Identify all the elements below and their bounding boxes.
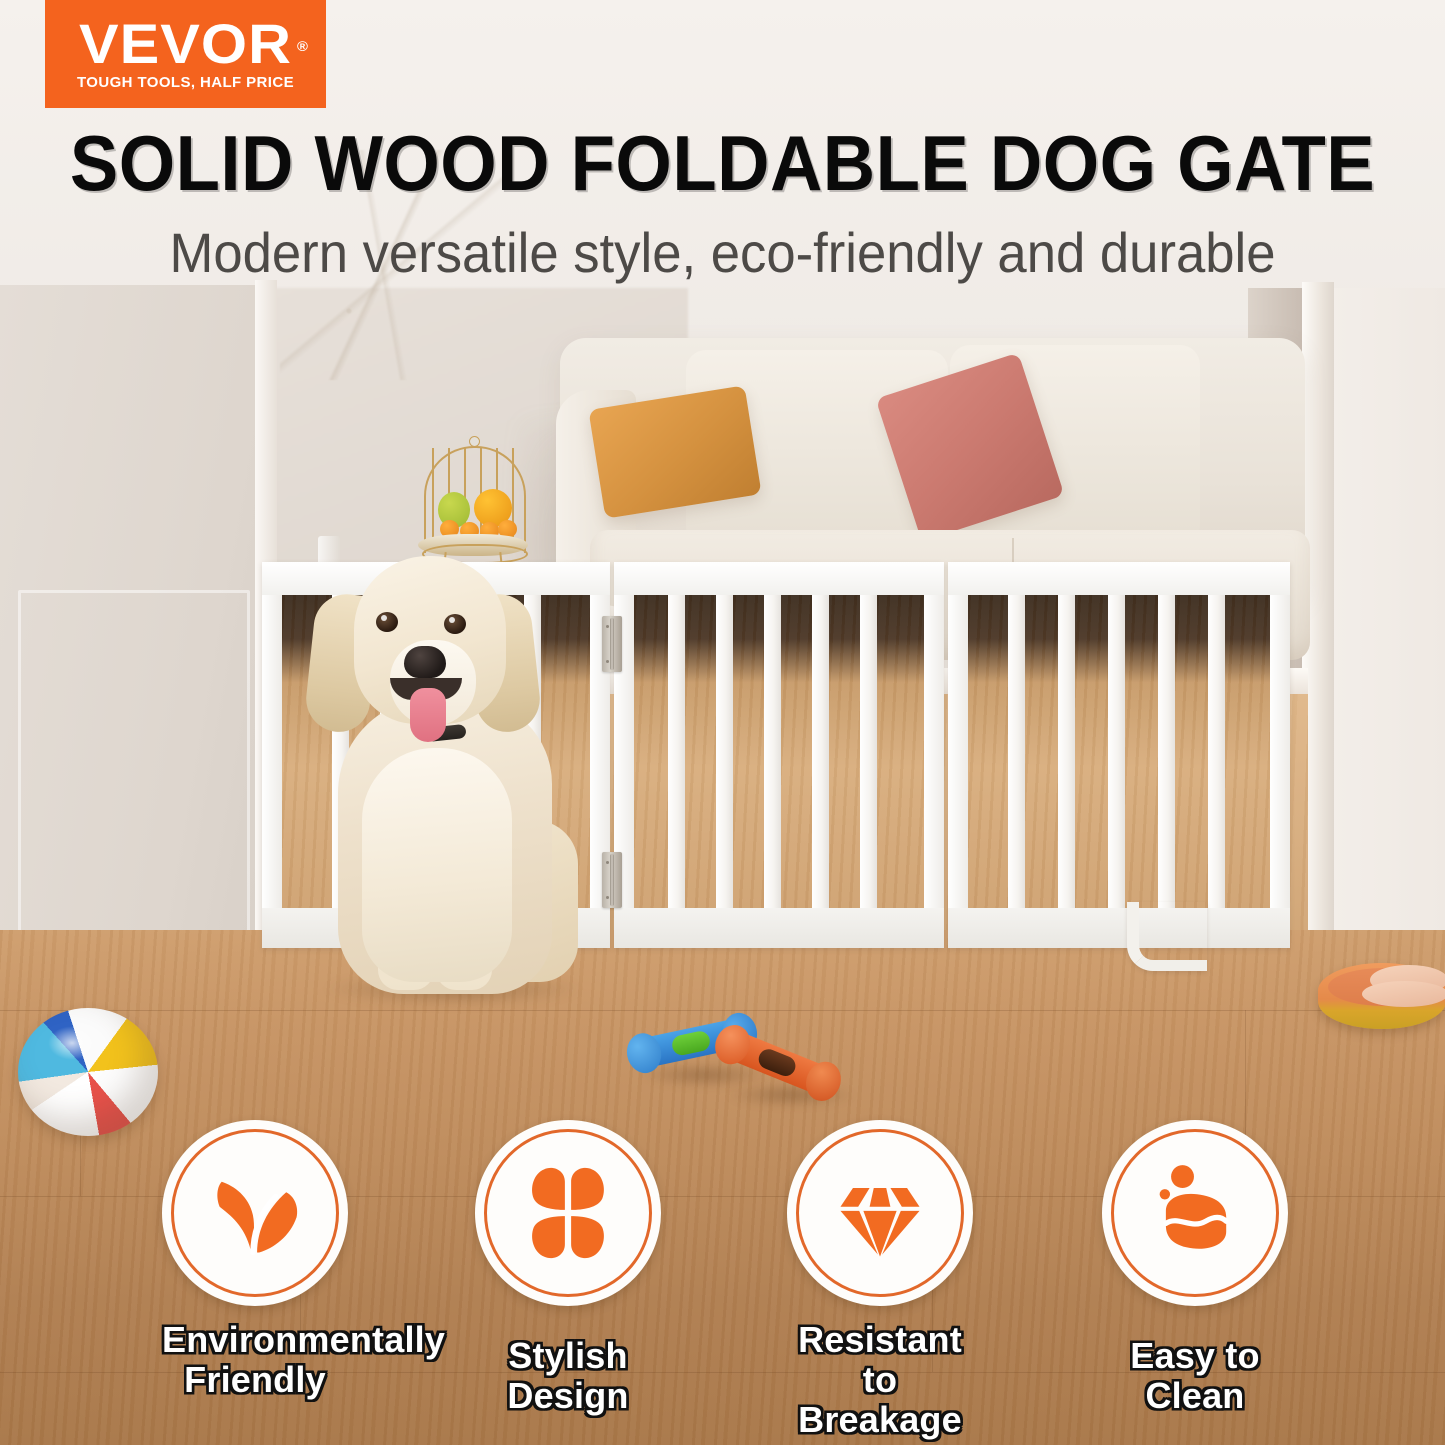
golden-retriever-dog [286,520,606,990]
beach-ball-highlight [48,1026,96,1060]
beach-ball [18,1008,158,1136]
feature-badge-row: Environmentally Friendly Stylish Design [0,1120,1445,1445]
sponge-icon [1143,1161,1247,1265]
feature-label: Stylish Design [475,1336,661,1416]
gate-top-rail [948,562,1290,595]
gate-stile [924,562,944,948]
gate-stile [1270,562,1290,948]
dog-chest [362,748,512,982]
clover-icon [516,1161,620,1265]
dog-eye-left [376,612,398,632]
badge-circle [1102,1120,1288,1306]
feature-badge-resistant-to-breakage: Resistant to Breakage [787,1120,973,1440]
gate-bottom-rail [614,908,944,948]
vevor-tagline: TOUGH TOOLS, HALF PRICE [77,74,294,91]
feature-label: Easy to Clean [1102,1336,1288,1416]
feature-badge-environmentally-friendly: Environmentally Friendly [162,1120,348,1400]
feature-badge-easy-to-clean: Easy to Clean [1102,1120,1288,1416]
badge-circle [162,1120,348,1306]
gate-panel-right: VEVOR® Natural Wood Pet Gate Technical S… [948,562,1290,948]
page-subtitle: Modern versatile style, eco-friendly and… [43,222,1401,284]
gate-top-rail [614,562,944,595]
dog-eye-right [444,614,466,634]
diamond-icon [828,1161,932,1265]
dog-tongue [410,688,446,742]
feature-label: Environmentally Friendly [162,1320,348,1400]
tray-food-item [1362,981,1445,1007]
registered-trademark-icon: ® [297,20,309,72]
badge-circle [475,1120,661,1306]
gate-stile [262,562,282,948]
gate-panel-middle [614,562,944,948]
gate-stile [948,562,968,948]
badge-circle [787,1120,973,1306]
left-wall-panel [0,285,268,945]
dog-nose [404,646,446,678]
vevor-wordmark: VEVOR ® [79,18,292,70]
feature-badge-stylish-design: Stylish Design [475,1120,661,1416]
gate-bottom-rail [948,908,1290,948]
vevor-logo-text: VEVOR [79,12,292,75]
floor-seam [0,1010,1445,1011]
vevor-logo: VEVOR ® TOUGH TOOLS, HALF PRICE [45,0,326,108]
product-marketing-image: VEVOR® Natural Wood Pet Gate Technical S… [0,0,1445,1445]
gate-support-foot [1127,902,1207,971]
leaf-icon [203,1161,307,1265]
birdcage-finial [469,436,480,447]
feature-label: Resistant to Breakage [787,1320,973,1440]
far-right-wall [1330,288,1445,948]
page-title: SOLID WOOD FOLDABLE DOG GATE [51,121,1395,205]
serving-tray [1318,963,1445,1029]
